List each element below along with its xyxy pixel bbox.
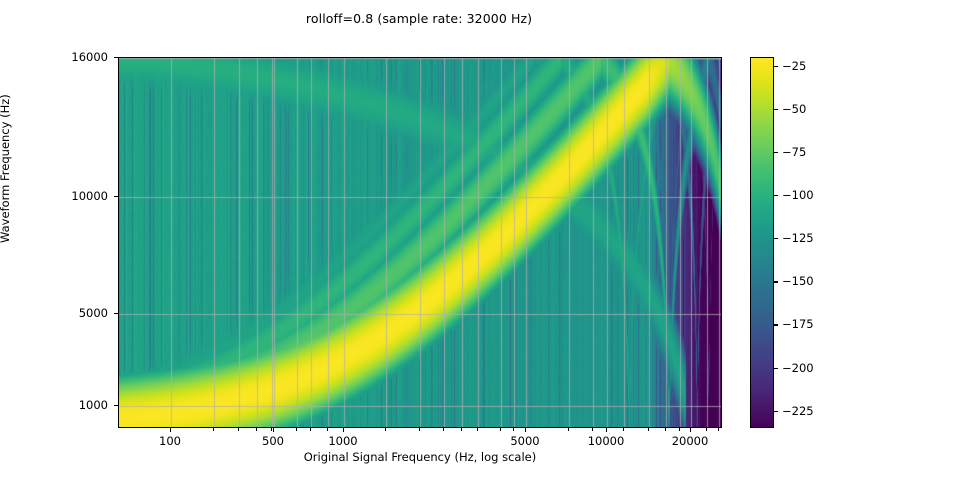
colorbar-tick-mark <box>774 195 778 196</box>
x-tick-mark <box>343 428 344 432</box>
colorbar-tick-mark <box>774 411 778 412</box>
colorbar-tick-label: −225 <box>782 404 814 418</box>
x-axis-label: Original Signal Frequency (Hz, log scale… <box>118 450 722 464</box>
colorbar-tick-label: −150 <box>782 274 814 288</box>
x-minor-tick-mark <box>679 428 680 431</box>
colorbar-tick-label: −175 <box>782 317 814 331</box>
colorbar-tick-label: −25 <box>782 59 806 73</box>
x-minor-tick-mark <box>310 428 311 431</box>
x-minor-tick-mark <box>568 428 569 431</box>
x-minor-tick-mark <box>256 428 257 431</box>
colorbar-tick-mark <box>774 368 778 369</box>
x-tick-mark <box>525 428 526 432</box>
x-minor-tick-mark <box>648 428 649 431</box>
colorbar-tick-mark <box>774 66 778 67</box>
y-tick-mark <box>114 405 118 406</box>
plot-area[interactable] <box>118 57 722 428</box>
x-minor-tick-mark <box>419 428 420 431</box>
figure-title: rolloff=0.8 (sample rate: 32000 Hz) <box>0 11 838 26</box>
x-tick-label: 100 <box>159 434 181 448</box>
x-tick-label: 10000 <box>588 434 625 448</box>
x-tick-mark <box>690 428 691 432</box>
x-minor-tick-mark <box>296 428 297 431</box>
x-minor-tick-mark <box>385 428 386 431</box>
spectrogram-heatmap <box>119 58 722 428</box>
colorbar[interactable] <box>750 57 774 428</box>
x-minor-tick-mark <box>271 428 272 431</box>
y-tick-label: 5000 <box>79 306 108 320</box>
y-tick-label: 1000 <box>79 398 108 412</box>
y-tick-mark <box>114 196 118 197</box>
figure-canvas: rolloff=0.8 (sample rate: 32000 Hz) Wave… <box>0 0 960 480</box>
x-tick-mark <box>273 428 274 432</box>
y-tick-mark <box>114 57 118 58</box>
colorbar-tick-label: −50 <box>782 102 806 116</box>
colorbar-tick-mark <box>774 152 778 153</box>
x-minor-tick-mark <box>477 428 478 431</box>
x-minor-tick-mark <box>513 428 514 431</box>
x-tick-label: 5000 <box>510 434 539 448</box>
x-tick-mark <box>170 428 171 432</box>
x-minor-tick-mark <box>238 428 239 431</box>
x-minor-tick-mark <box>443 428 444 431</box>
colorbar-tick-label: −125 <box>782 231 814 245</box>
x-tick-label: 1000 <box>328 434 357 448</box>
y-axis-label: Waveform Frequency (Hz) <box>0 94 12 243</box>
y-tick-mark <box>114 313 118 314</box>
y-tick-label: 10000 <box>71 189 108 203</box>
colorbar-tick-mark <box>774 109 778 110</box>
x-minor-tick-mark <box>213 428 214 431</box>
colorbar-gradient <box>751 58 774 428</box>
colorbar-tick-label: −100 <box>782 188 814 202</box>
x-minor-tick-mark <box>706 428 707 431</box>
x-minor-tick-mark <box>500 428 501 431</box>
y-tick-label: 16000 <box>71 50 108 64</box>
x-minor-tick-mark <box>327 428 328 431</box>
x-minor-tick-mark <box>623 428 624 431</box>
x-tick-label: 20000 <box>672 434 709 448</box>
colorbar-tick-mark <box>774 281 778 282</box>
colorbar-tick-label: −75 <box>782 145 806 159</box>
x-minor-tick-mark <box>592 428 593 431</box>
x-tick-mark <box>606 428 607 432</box>
colorbar-tick-mark <box>774 238 778 239</box>
colorbar-tick-mark <box>774 324 778 325</box>
x-tick-label: 500 <box>262 434 284 448</box>
x-minor-tick-mark <box>461 428 462 431</box>
x-minor-tick-mark <box>665 428 666 431</box>
x-minor-tick-mark <box>718 428 719 431</box>
colorbar-tick-label: −200 <box>782 361 814 375</box>
